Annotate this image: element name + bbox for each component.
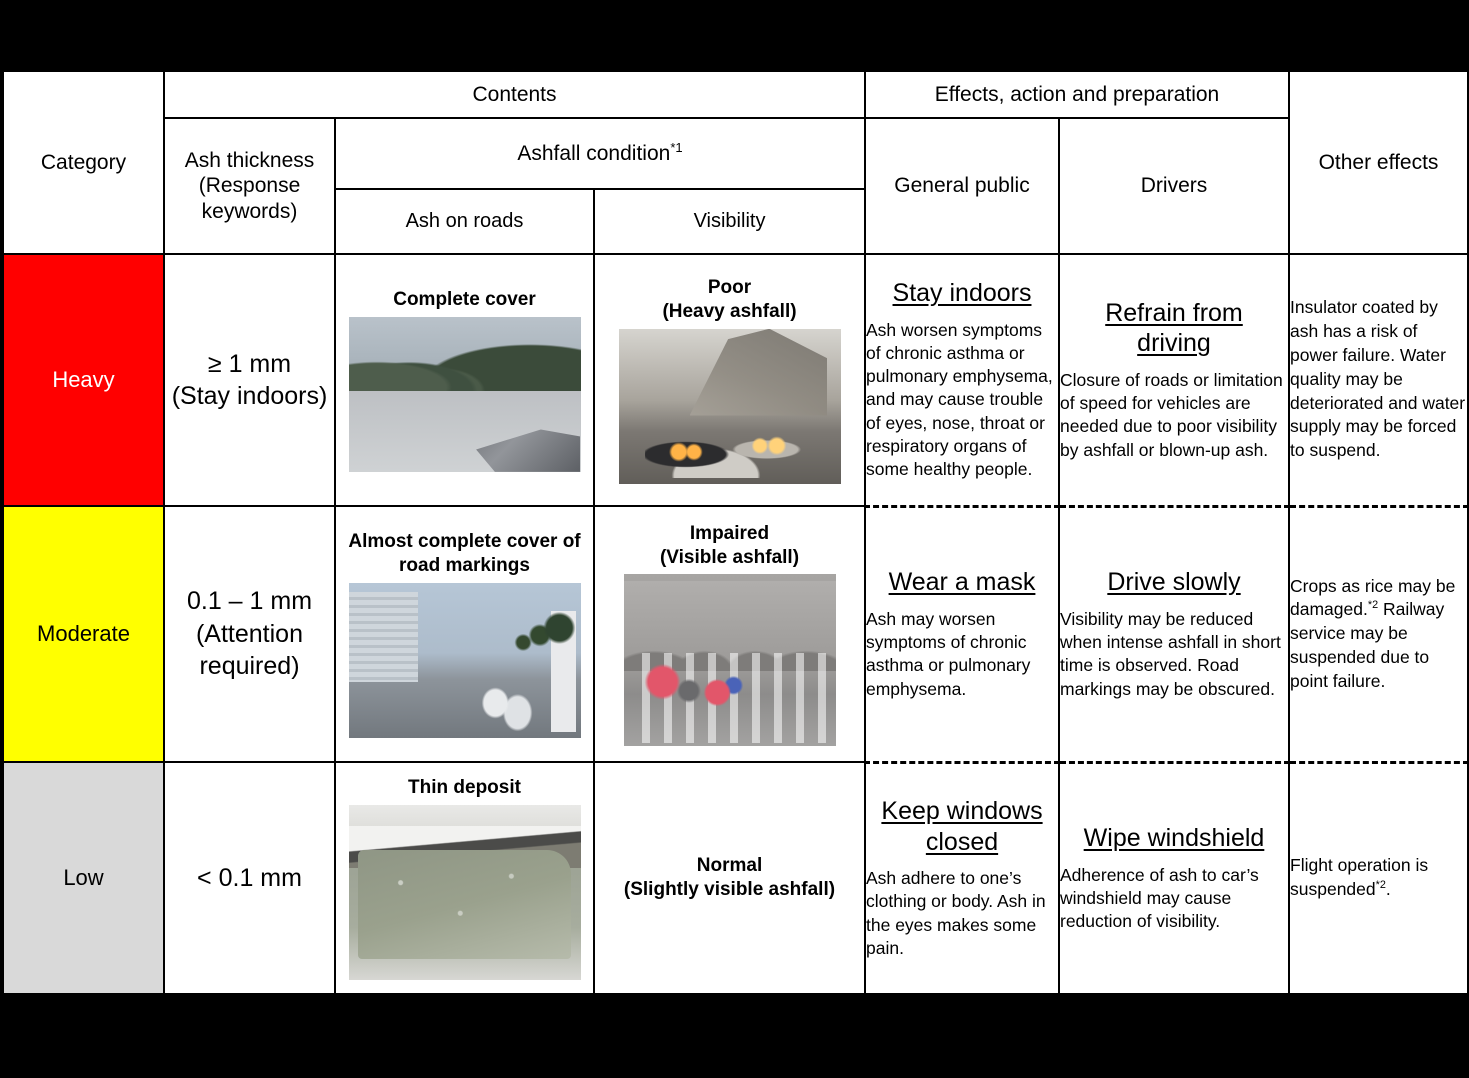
header-ashfall-condition: Ashfall condition*1 [335,118,865,188]
thickness-keyword-line1: (Attention [196,620,303,648]
general-public-title-line1: Keep windows [881,797,1042,825]
palm-lined-boulevard-photo [349,583,581,738]
visibility-label: Poor (Heavy ashfall) [595,276,864,324]
general-public-cell-heavy: Stay indoors Ash worsen symptoms of chro… [865,254,1059,506]
ash-on-roads-cell-heavy: Complete cover [335,254,594,506]
ash-on-roads-label: Thin deposit [336,776,593,800]
general-public-title-line2: closed [926,828,998,856]
visibility-cell-heavy: Poor (Heavy ashfall) [594,254,865,506]
header-ash-on-roads: Ash on roads [335,189,594,254]
visibility-label-line1: Normal [697,855,762,876]
other-effects-part1: Flight operation is suspended [1290,855,1428,899]
header-ash-thickness-line2: (Response [199,174,301,197]
drivers-title: Drive slowly [1060,567,1288,598]
crowded-crosswalk-photo [624,574,836,746]
visibility-label-line2: (Slightly visible ashfall) [624,879,835,900]
thickness-value: 0.1 – 1 mm [187,587,312,615]
header-ash-thickness-line1: Ash thickness [185,149,315,172]
table-row: Moderate 0.1 – 1 mm (Attention required)… [3,506,1468,762]
header-ash-thickness: Ash thickness (Response keywords) [164,118,335,254]
header-effects-group: Effects, action and preparation [865,71,1289,118]
thickness-value: ≥ 1 mm [208,350,291,378]
general-public-body: Ash adhere to one’s clothing or body. As… [866,867,1058,960]
header-row-tier2: Ash thickness (Response keywords) Ashfal… [3,118,1468,188]
dusty-windshield-photo [349,805,581,980]
drivers-title: Refrain from driving [1060,298,1288,359]
other-effects-cell-moderate: Crops as rice may be damaged.*2 Railway … [1289,506,1468,762]
header-row-tier1: Category Contents Effects, action and pr… [3,71,1468,118]
thickness-value: < 0.1 mm [197,864,302,892]
visibility-label-line1: Poor [708,277,751,298]
footnote-marker-1: *1 [670,140,682,155]
drivers-title: Wipe windshield [1060,823,1288,854]
table-row: Heavy ≥ 1 mm (Stay indoors) Complete cov… [3,254,1468,506]
drivers-body: Closure of roads or limitation of speed … [1060,369,1288,462]
general-public-body: Ash worsen symptoms of chronic asthma or… [866,319,1058,482]
general-public-title: Wear a mask [866,567,1058,598]
header-contents: Contents [164,71,865,118]
ash-on-roads-label-line2: road markings [399,555,530,576]
header-ash-thickness-line3: keywords) [202,200,298,223]
drivers-cell-low: Wipe windshield Adherence of ash to car’… [1059,762,1289,994]
header-category: Category [3,71,164,254]
ash-covered-forest-road-photo [349,317,581,472]
ash-on-roads-cell-low: Thin deposit [335,762,594,994]
visibility-label-line1: Impaired [690,523,769,544]
general-public-title: Stay indoors [866,278,1058,309]
drivers-cell-moderate: Drive slowly Visibility may be reduced w… [1059,506,1289,762]
heavy-ashfall-highway-photo [619,329,841,484]
visibility-cell-low: Normal (Slightly visible ashfall) [594,762,865,994]
visibility-label-line2: (Visible ashfall) [660,547,799,568]
thickness-keyword-line2: required) [199,652,299,680]
visibility-label-line2: (Heavy ashfall) [662,301,796,322]
table-row: Low < 0.1 mm Thin deposit Normal (Slight… [3,762,1468,994]
header-general-public: General public [865,118,1059,254]
drivers-cell-heavy: Refrain from driving Closure of roads or… [1059,254,1289,506]
ash-on-roads-label-line1: Almost complete cover of [348,531,580,552]
other-effects-cell-heavy: Insulator coated by ash has a risk of po… [1289,254,1468,506]
ashfall-category-table: Category Contents Effects, action and pr… [2,70,1469,995]
category-cell-heavy: Heavy [3,254,164,506]
slide-canvas: Category Contents Effects, action and pr… [0,0,1469,1078]
footnote-marker-2: *2 [1376,879,1386,891]
header-visibility: Visibility [594,189,865,254]
header-other-effects: Other effects [1289,71,1468,254]
thickness-cell-moderate: 0.1 – 1 mm (Attention required) [164,506,335,762]
general-public-body: Ash may worsen symptoms of chronic asthm… [866,608,1058,701]
drivers-title-line2: driving [1137,329,1211,357]
drivers-body: Visibility may be reduced when intense a… [1060,608,1288,701]
category-cell-low: Low [3,762,164,994]
general-public-cell-moderate: Wear a mask Ash may worsen symptoms of c… [865,506,1059,762]
category-cell-moderate: Moderate [3,506,164,762]
general-public-cell-low: Keep windows closed Ash adhere to one’s … [865,762,1059,994]
ash-on-roads-label: Complete cover [336,288,593,312]
ash-on-roads-label: Almost complete cover of road markings [336,530,593,578]
thickness-cell-low: < 0.1 mm [164,762,335,994]
visibility-label: Impaired (Visible ashfall) [595,522,864,570]
other-effects-cell-low: Flight operation is suspended*2. [1289,762,1468,994]
header-ashfall-condition-text: Ashfall condition [517,142,670,165]
drivers-title-line1: Refrain from [1105,299,1243,327]
footnote-marker-2: *2 [1368,599,1378,611]
header-drivers: Drivers [1059,118,1289,254]
thickness-keyword: (Stay indoors) [172,382,328,410]
other-effects-part2: . [1386,879,1391,899]
general-public-title: Keep windows closed [866,796,1058,857]
drivers-body: Adherence of ash to car’s windshield may… [1060,864,1288,934]
thickness-cell-heavy: ≥ 1 mm (Stay indoors) [164,254,335,506]
ash-on-roads-cell-moderate: Almost complete cover of road markings [335,506,594,762]
visibility-cell-moderate: Impaired (Visible ashfall) [594,506,865,762]
visibility-label: Normal (Slightly visible ashfall) [595,854,864,902]
